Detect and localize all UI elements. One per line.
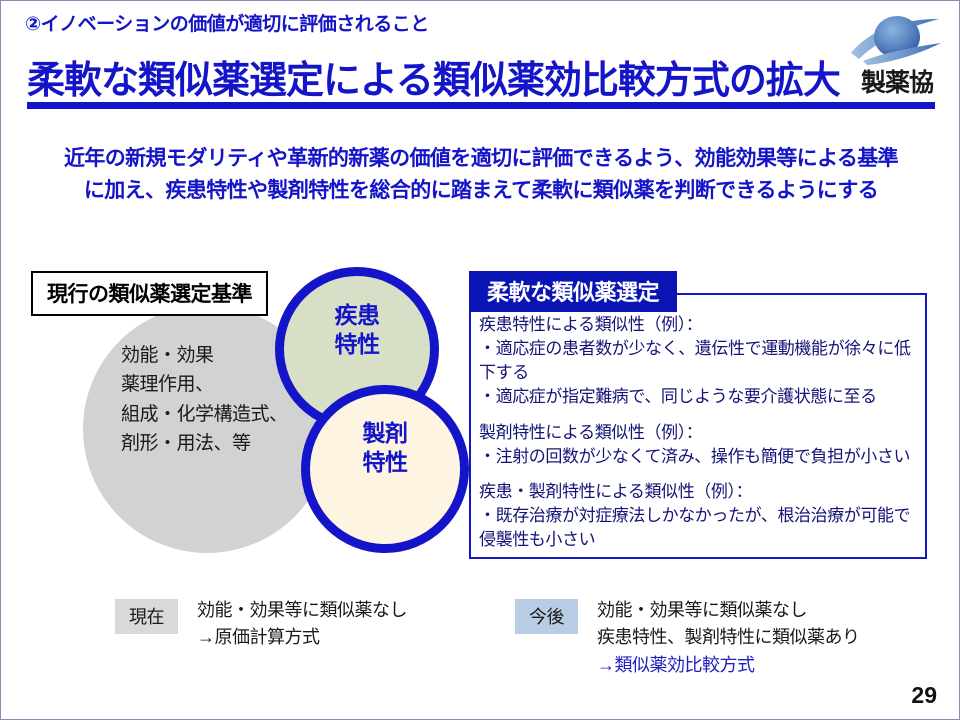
current-criteria-list: 効能・効果 薬理作用、 組成・化学構造式、 剤形・用法、等 xyxy=(121,341,288,459)
lead-line-2: に加え、疾患特性や製剤特性を総合的に踏まえて柔軟に類似薬を判断できるようにする xyxy=(23,175,939,207)
criteria-item: 剤形・用法、等 xyxy=(121,429,288,458)
panel-group-item: ・適応症が指定難病で、同じような要介護状態に至る xyxy=(479,385,921,409)
similar-drug-venn-diagram: 現行の類似薬選定基準 効能・効果 薬理作用、 組成・化学構造式、 剤形・用法、等… xyxy=(25,263,465,563)
page-number: 29 xyxy=(911,682,937,709)
status-badge-future: 今後 xyxy=(515,599,578,634)
logo-text: 製薬協 xyxy=(847,63,947,99)
slide-eyebrow: ②イノベーションの価値が適切に評価されること xyxy=(25,9,429,36)
future-pricing-note: 効能・効果等に類似薬なし 疾患特性、製剤特性に類似薬あり →類似薬効比較方式 xyxy=(597,597,860,679)
panel-group-heading: 疾患・製剤特性による類似性（例）： xyxy=(479,480,921,504)
panel-group-item: ・適応症の患者数が少なく、遺伝性で運動機能が徐々に低下する xyxy=(479,337,921,385)
panel-group-item: ・既存治療が対症療法しかなかったが、根治治療が可能で侵襲性も小さい xyxy=(479,504,921,552)
current-note-line: →原価計算方式 xyxy=(197,624,407,651)
future-note-highlight: →類似薬効比較方式 xyxy=(597,652,860,679)
panel-group-heading: 疾患特性による類似性（例）： xyxy=(479,313,921,337)
status-badge-current: 現在 xyxy=(115,599,178,634)
lead-paragraph: 近年の新規モダリティや革新的新薬の価値を適切に評価できるよう、効能効果等による基… xyxy=(23,143,939,206)
current-criteria-title-box: 現行の類似薬選定基準 xyxy=(31,271,268,316)
panel-group: 疾患・製剤特性による類似性（例）： ・既存治療が対症療法しかなかったが、根治治療… xyxy=(479,480,921,552)
current-pricing-note: 効能・効果等に類似薬なし →原価計算方式 xyxy=(197,597,407,652)
future-note-line: 疾患特性、製剤特性に類似薬あり xyxy=(597,624,860,651)
logo: 製薬協 xyxy=(847,13,947,101)
criteria-item: 効能・効果 xyxy=(121,341,288,370)
panel-group-item: ・注射の回数が少なくて済み、操作も簡便で負担が小さい xyxy=(479,445,921,469)
criteria-item: 薬理作用、 xyxy=(121,370,288,399)
formulation-characteristics-label: 製剤 特性 xyxy=(317,419,453,477)
page-title: 柔軟な類似薬選定による類似薬効比較方式の拡大 xyxy=(27,49,840,104)
lead-line-1: 近年の新規モダリティや革新的新薬の価値を適切に評価できるよう、効能効果等による基… xyxy=(23,143,939,175)
formulation-label-line-2: 特性 xyxy=(317,448,453,477)
title-underline-rule xyxy=(27,102,935,109)
flexible-selection-panel-title: 柔軟な類似薬選定 xyxy=(469,271,677,312)
slide-root: ②イノベーションの価値が適切に評価されること 柔軟な類似薬選定による類似薬効比較… xyxy=(0,0,960,720)
logo-sphere-icon xyxy=(847,13,947,67)
current-note-line: 効能・効果等に類似薬なし xyxy=(197,597,407,624)
flexible-selection-panel-body: 疾患特性による類似性（例）： ・適応症の患者数が少なく、遺伝性で運動機能が徐々に… xyxy=(479,313,921,552)
panel-group: 疾患特性による類似性（例）： ・適応症の患者数が少なく、遺伝性で運動機能が徐々に… xyxy=(479,313,921,410)
panel-group: 製剤特性による類似性（例）： ・注射の回数が少なくて済み、操作も簡便で負担が小さ… xyxy=(479,421,921,469)
future-note-line: 効能・効果等に類似薬なし xyxy=(597,597,860,624)
formulation-label-line-1: 製剤 xyxy=(317,419,453,448)
criteria-item: 組成・化学構造式、 xyxy=(121,400,288,429)
disease-label-line-1: 疾患 xyxy=(291,301,423,330)
panel-group-heading: 製剤特性による類似性（例）： xyxy=(479,421,921,445)
disease-label-line-2: 特性 xyxy=(291,330,423,359)
disease-characteristics-label: 疾患 特性 xyxy=(291,301,423,359)
